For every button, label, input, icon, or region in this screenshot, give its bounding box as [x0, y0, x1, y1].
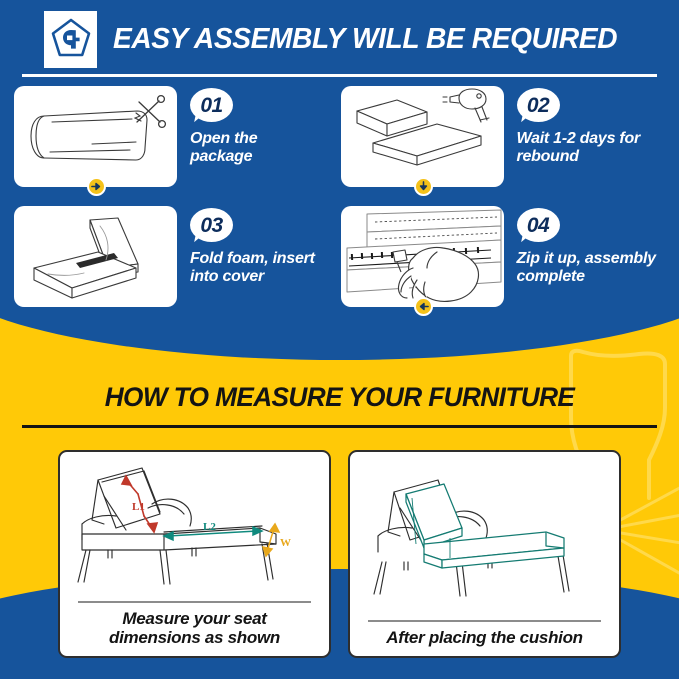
step-02-number: 02	[527, 95, 549, 116]
folded-foam-into-cover-icon	[14, 206, 177, 307]
rolled-package-with-scissors-icon	[14, 86, 177, 187]
step-01-number-badge: 01	[190, 88, 236, 126]
home-pentagon-logo-icon	[44, 11, 97, 68]
measure-divider	[22, 425, 657, 428]
assembly-step-02: 02 Wait 1-2 days for rebound	[341, 86, 666, 204]
hand-zipping-cushion-cover-icon	[341, 206, 504, 307]
step-03-label: Fold foam, insert into cover	[190, 250, 339, 286]
step-03-number-badge: 03	[190, 208, 236, 246]
step-01-arrow-right-icon	[87, 177, 106, 196]
step-01-number: 01	[200, 95, 222, 116]
step-02-illustration-card	[341, 86, 504, 187]
step-02-label: Wait 1-2 days for rebound	[517, 130, 666, 166]
chaise-lounge-with-dimension-arrows-icon: L1 L2 W	[64, 458, 326, 598]
dimension-label-w: W	[280, 537, 291, 549]
assembly-step-03: 03 Fold foam, insert into cover	[14, 206, 339, 324]
dimension-label-l1: L1	[132, 501, 145, 513]
two-foam-cushions-with-hairdryer-icon	[341, 86, 504, 187]
step-03-illustration-card	[14, 206, 177, 307]
step-02-number-badge: 02	[517, 88, 563, 126]
measure-panels: L1 L2 W	[0, 450, 679, 666]
header: EASY ASSEMBLY WILL BE REQUIRED	[0, 0, 679, 78]
chaise-lounge-with-cushion-installed-icon	[354, 468, 616, 608]
step-03-number: 03	[200, 215, 222, 236]
cushion-panel-figure	[350, 452, 619, 620]
page-title: EASY ASSEMBLY WILL BE REQUIRED	[113, 23, 617, 56]
step-04-arrow-left-icon	[414, 297, 433, 316]
step-04-number: 04	[527, 215, 549, 236]
assembly-step-01: 01 Open the package	[14, 86, 339, 204]
assembly-steps-grid: 01 Open the package	[0, 86, 679, 324]
measure-panel-caption: Measure your seat dimensions as shown	[60, 603, 329, 656]
step-01-text: 01 Open the package	[190, 86, 339, 166]
cushion-panel-caption: After placing the cushion	[350, 622, 619, 656]
header-divider	[22, 74, 657, 77]
step-02-arrow-down-icon	[414, 177, 433, 196]
measure-panel-figure: L1 L2 W	[60, 452, 329, 601]
step-01-illustration-card	[14, 86, 177, 187]
step-02-text: 02 Wait 1-2 days for rebound	[517, 86, 666, 166]
measure-panel-cushion: After placing the cushion	[348, 450, 621, 658]
measure-section-title: HOW TO MEASURE YOUR FURNITURE	[10, 382, 669, 413]
measure-panel-dimensions: L1 L2 W	[58, 450, 331, 658]
step-04-number-badge: 04	[517, 208, 563, 246]
step-04-text: 04 Zip it up, assembly complete	[517, 206, 666, 286]
step-01-label: Open the package	[190, 130, 339, 166]
assembly-step-04: 04 Zip it up, assembly complete	[341, 206, 666, 324]
dimension-label-l2: L2	[203, 521, 216, 533]
step-04-illustration-card	[341, 206, 504, 307]
step-04-label: Zip it up, assembly complete	[517, 250, 666, 286]
step-03-text: 03 Fold foam, insert into cover	[190, 206, 339, 286]
infographic-page: EASY ASSEMBLY WILL BE REQUIRED	[0, 0, 679, 679]
